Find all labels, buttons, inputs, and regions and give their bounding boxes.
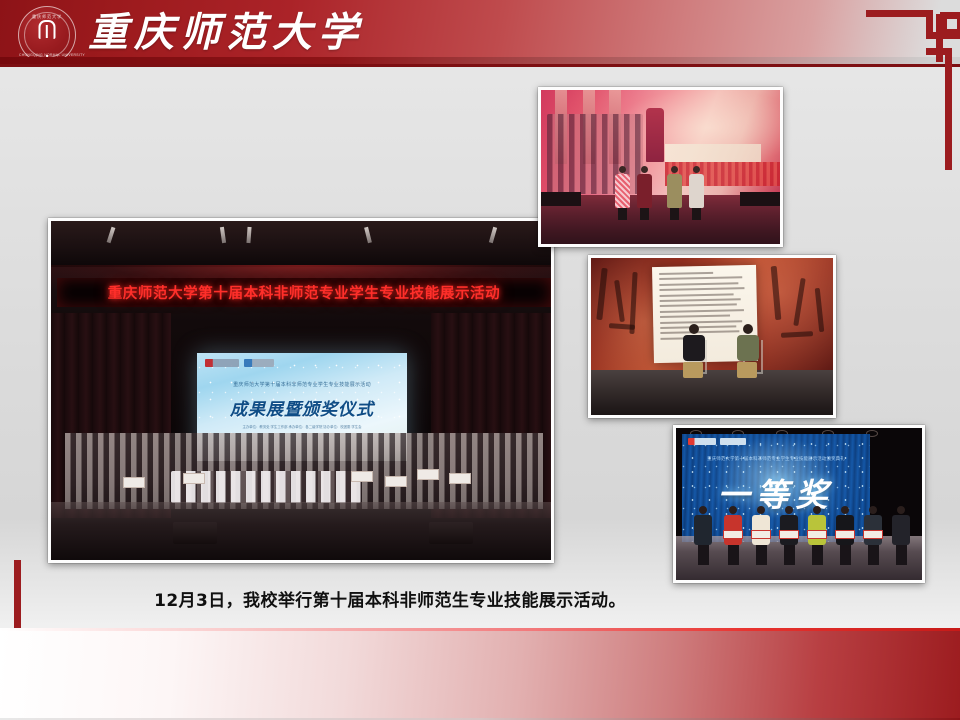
slide-footer-band	[0, 628, 960, 720]
letter-drama-photo	[588, 255, 836, 418]
slide-canvas: 重庆师范大学 CHONGQING NORMAL UNIVERSITY 重庆师范大…	[0, 0, 960, 720]
stage-monitor-speaker	[429, 522, 473, 544]
slide-header: 重庆师范大学 CHONGQING NORMAL UNIVERSITY 重庆师范大…	[0, 0, 960, 67]
group-award-photo: 重庆师范大学第十届本科非师范专业学生专业技能展示活动 重庆师范大学第十届本科非师…	[48, 218, 554, 563]
first-prize-award-photo: 重庆师范大学第十届本科非师范专业学生专业技能展示活动颁奖典礼 一等奖	[673, 425, 925, 583]
slide-caption: 12月3日，我校举行第十届本科非师范生专业技能展示活动。	[0, 586, 780, 611]
top-right-ornament-icon	[866, 10, 960, 170]
stage-performance-photo	[538, 87, 783, 247]
page-title: 重庆师范大学	[88, 3, 364, 63]
seal-bottom-text: CHONGQING NORMAL UNIVERSITY	[19, 53, 75, 57]
stage-monitor-speaker	[173, 522, 217, 544]
award-screen-title: 重庆师范大学第十届本科非师范专业学生专业技能展示活动颁奖典礼	[682, 456, 870, 462]
university-seal-icon: 重庆师范大学 CHONGQING NORMAL UNIVERSITY	[18, 6, 76, 64]
